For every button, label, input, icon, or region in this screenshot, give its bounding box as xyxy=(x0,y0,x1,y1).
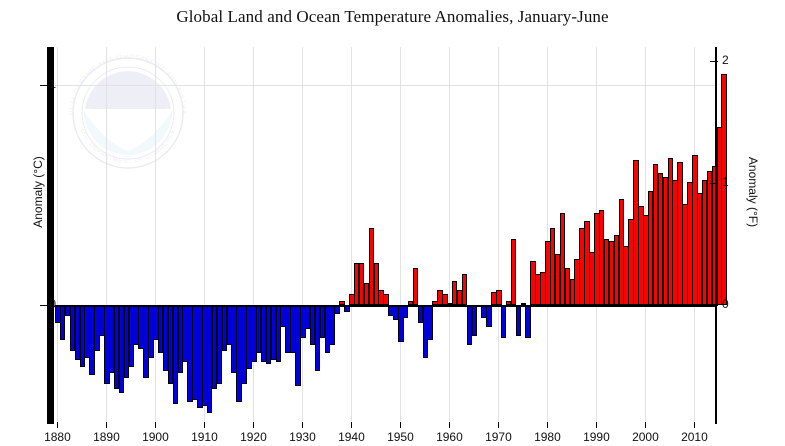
bar-series xyxy=(55,47,716,422)
y-axis-right xyxy=(715,47,717,424)
x-tick xyxy=(253,422,254,428)
x-tick xyxy=(596,422,597,428)
x-tick xyxy=(106,422,107,428)
x-tick xyxy=(57,422,58,428)
y-tick-right xyxy=(710,61,718,62)
bar-2016 xyxy=(721,74,727,305)
y-tick-right xyxy=(710,305,718,306)
x-tick xyxy=(645,422,646,428)
y-axis-left xyxy=(47,47,54,424)
y-tick-label-right: 0 xyxy=(722,297,729,311)
bar-1973 xyxy=(511,239,517,305)
y-tick-label-right: 1 xyxy=(722,175,729,189)
x-tick-label: 2010 xyxy=(664,430,724,444)
y-tick-label-left: 0 xyxy=(16,297,56,311)
plot-area xyxy=(55,47,716,422)
x-tick xyxy=(155,422,156,428)
y-axis-left-title: Anomaly (°C) xyxy=(31,132,45,252)
bar-1947 xyxy=(383,294,389,305)
x-tick xyxy=(351,422,352,428)
bar-1976 xyxy=(525,305,531,338)
chart-page: Global Land and Ocean Temperature Anomal… xyxy=(0,0,785,446)
x-tick xyxy=(694,422,695,428)
bar-1968 xyxy=(486,305,492,327)
bar-1970 xyxy=(496,290,502,305)
y-axis-right-title: Anomaly (°F) xyxy=(746,132,760,252)
y-tick-right xyxy=(710,183,718,184)
page-title: Global Land and Ocean Temperature Anomal… xyxy=(0,7,785,27)
x-tick xyxy=(547,422,548,428)
x-tick xyxy=(204,422,205,428)
x-tick xyxy=(449,422,450,428)
x-tick xyxy=(498,422,499,428)
x-tick xyxy=(400,422,401,428)
y-tick-label-left: 1 xyxy=(16,77,56,91)
bar-1965 xyxy=(472,305,478,336)
bar-1956 xyxy=(427,305,433,340)
bar-1971 xyxy=(501,305,507,338)
zero-baseline xyxy=(55,305,716,307)
bar-1963 xyxy=(462,274,468,305)
x-tick xyxy=(302,422,303,428)
bar-1974 xyxy=(516,305,522,336)
y-tick-label-right: 2 xyxy=(722,53,729,67)
bar-1953 xyxy=(413,268,419,305)
